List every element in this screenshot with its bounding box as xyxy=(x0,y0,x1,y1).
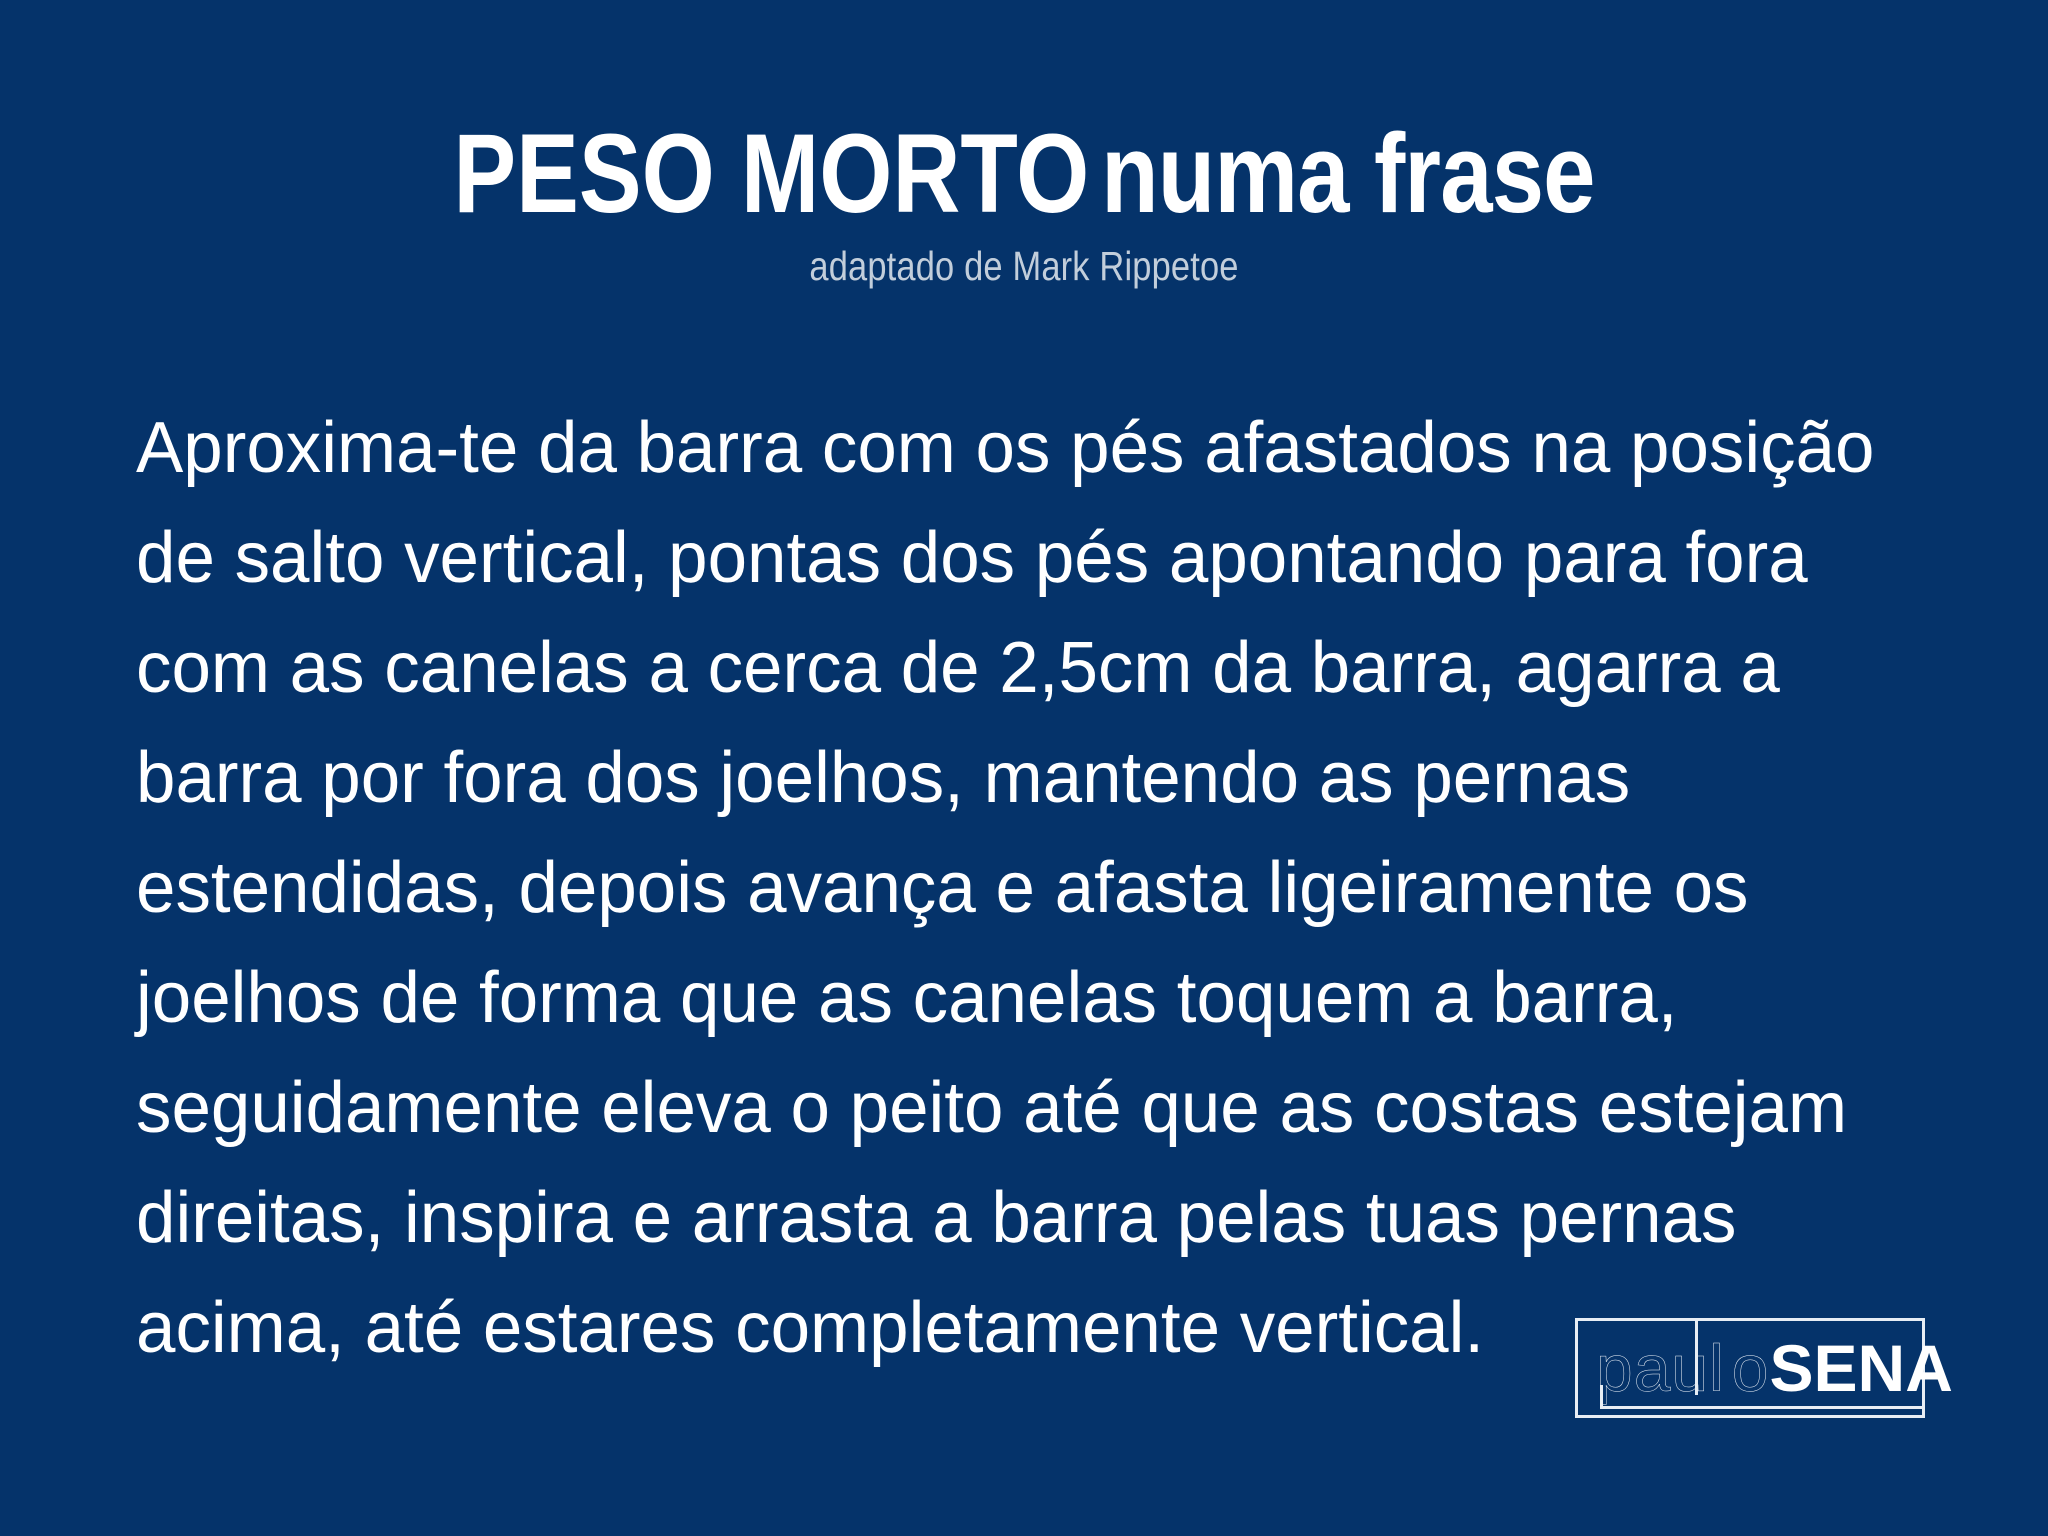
body-line: de salto vertical, pontas dos pés aponta… xyxy=(136,503,1919,613)
logo-inner: pauloSENA xyxy=(1578,1321,1922,1415)
body-line: joelhos de forma que as canelas toquem a… xyxy=(136,943,1919,1053)
logo-word-thin-o: o xyxy=(1732,1331,1770,1405)
page-title: PESO MORTOnuma frase xyxy=(164,118,1884,230)
slide-canvas: PESO MORTOnuma frase adaptado de Mark Ri… xyxy=(0,0,2048,1536)
body-line: com as canelas a cerca de 2,5cm da barra… xyxy=(136,613,1919,723)
logo-base-rule xyxy=(1600,1406,1925,1409)
body-line: barra por fora dos joelhos, mantendo as … xyxy=(136,723,1919,833)
logo-word-bold: SENA xyxy=(1770,1331,1953,1405)
body-line: direitas, inspira e arrasta a barra pela… xyxy=(136,1163,1919,1273)
logo-word-thin: paul xyxy=(1596,1331,1725,1405)
page-subtitle: adaptado de Mark Rippetoe xyxy=(164,246,1884,287)
body-line: estendidas, depois avança e afasta ligei… xyxy=(136,833,1919,943)
header: PESO MORTOnuma frase adaptado de Mark Ri… xyxy=(0,118,2048,287)
body-line: seguidamente eleva o peito até que as co… xyxy=(136,1053,1919,1163)
logo-wordmark: pauloSENA xyxy=(1596,1335,1953,1401)
page-title-strong: PESO MORTO xyxy=(453,111,1089,236)
body-line: Aproxima-te da barra com os pés afastado… xyxy=(136,393,1919,503)
body-copy: Aproxima-te da barra com os pés afastado… xyxy=(136,393,1946,1383)
page-title-light: numa frase xyxy=(1101,111,1595,236)
paulosena-logo: pauloSENA xyxy=(1575,1318,1925,1418)
